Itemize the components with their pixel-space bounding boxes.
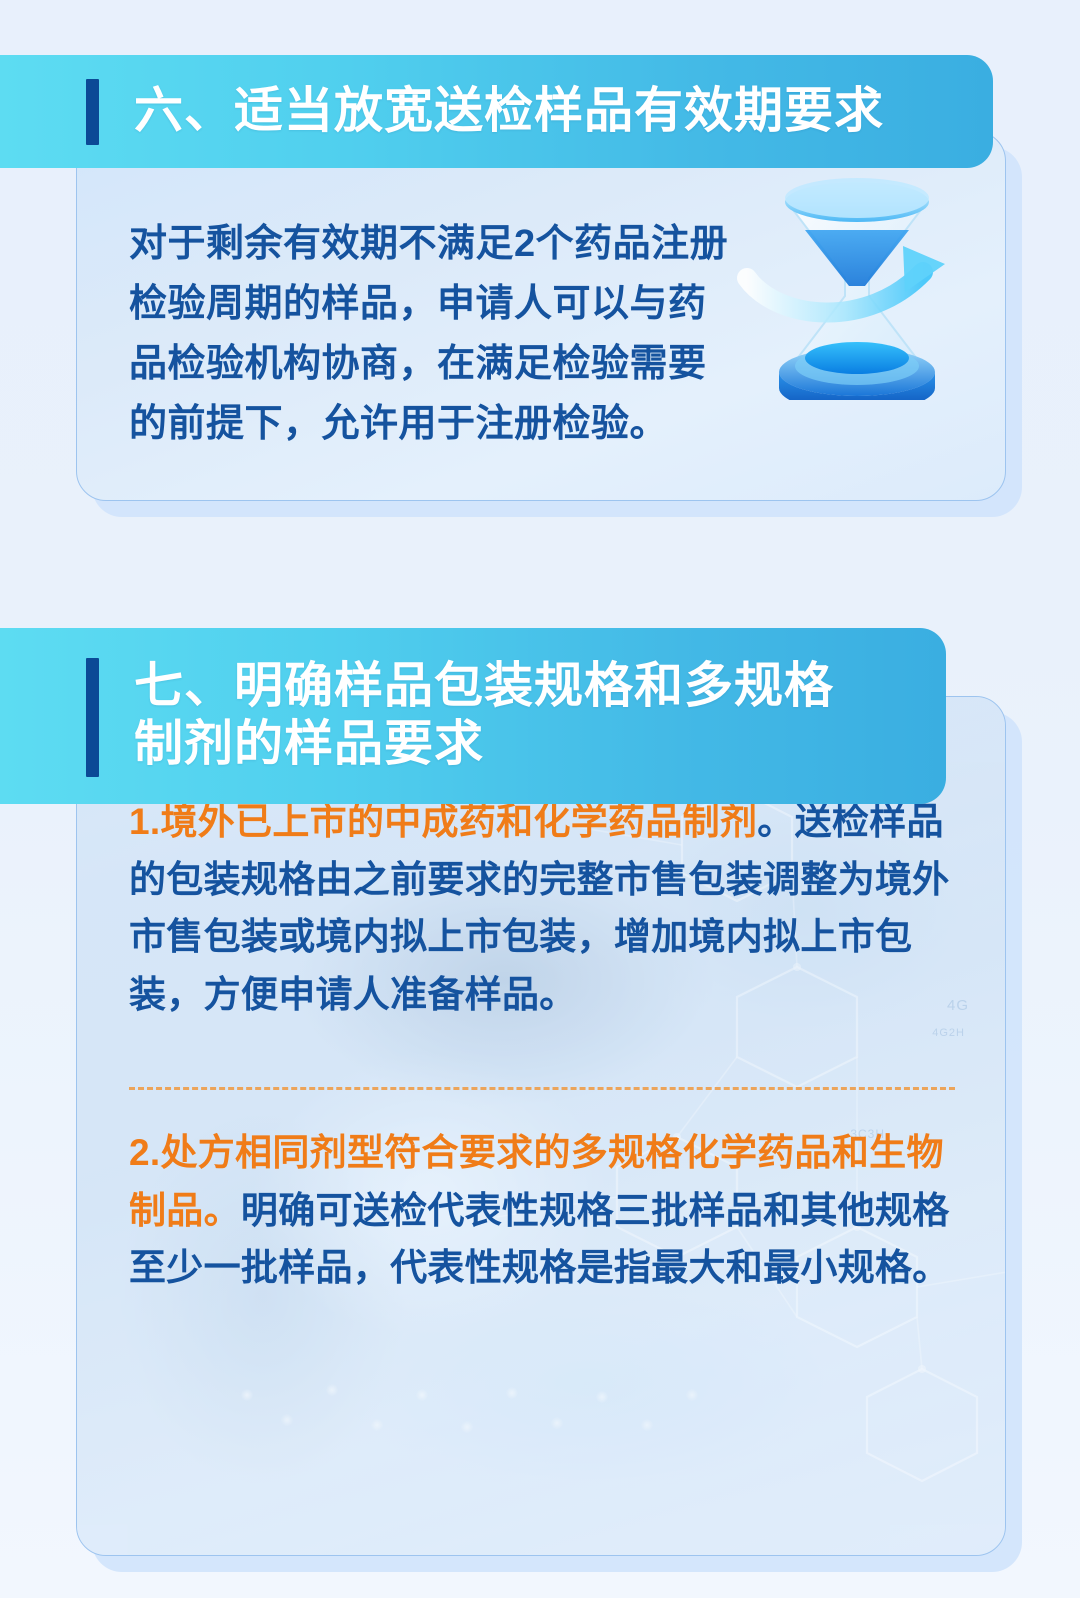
section-six-title: 六、适当放宽送检样品有效期要求 [134, 83, 884, 141]
card-seven: 4G 4G2H 3C3H 1.境外已上市的中成药和化学药品制剂。送检样品的包装规… [76, 696, 1006, 1556]
accent-bar-icon [86, 658, 99, 777]
watermark-text-2: 4G2H [932, 1027, 965, 1039]
paragraph-1-highlight: 1.境外已上市的中成药和化学药品制剂 [129, 801, 757, 842]
section-seven: 4G 4G2H 3C3H 1.境外已上市的中成药和化学药品制剂。送检样品的包装规… [0, 628, 1080, 804]
infographic-page: 对于剩余有效期不满足2个药品注册检验周期的样品，申请人可以与药品检验机构协商，在… [0, 0, 1080, 1598]
section-six-banner: 六、适当放宽送检样品有效期要求 [0, 55, 993, 168]
dashed-divider [129, 1087, 955, 1090]
hourglass-with-arrow-icon [727, 160, 987, 400]
paragraph-2: 2.处方相同剂型符合要求的多规格化学药品和生物制品。明确可送检代表性规格三批样品… [129, 1124, 959, 1297]
card-six: 对于剩余有效期不满足2个药品注册检验周期的样品，申请人可以与药品检验机构协商，在… [76, 131, 1006, 501]
paragraph-2-rest: 明确可送检代表性规格三批样品和其他规格至少一批样品，代表性规格是指最大和最小规格… [129, 1190, 950, 1289]
paragraph-1: 1.境外已上市的中成药和化学药品制剂。送检样品的包装规格由之前要求的完整市售包装… [129, 793, 959, 1024]
section-six: 对于剩余有效期不满足2个药品注册检验周期的样品，申请人可以与药品检验机构协商，在… [0, 55, 1080, 168]
section-seven-title: 七、明确样品包装规格和多规格 制剂的样品要求 [134, 658, 834, 774]
section-seven-banner: 七、明确样品包装规格和多规格 制剂的样品要求 [0, 628, 946, 804]
section-six-body-text: 对于剩余有效期不满足2个药品注册检验周期的样品，申请人可以与药品检验机构协商，在… [129, 214, 739, 454]
accent-bar-icon [86, 79, 99, 145]
